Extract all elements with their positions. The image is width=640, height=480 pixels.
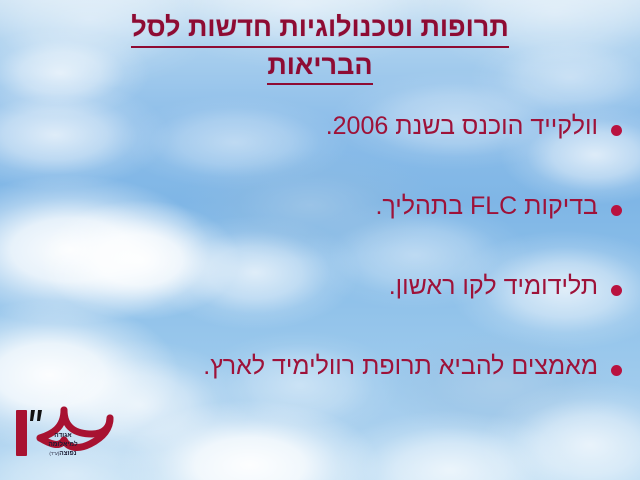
bullet-list: וולקייד הוכנס בשנת 2006. בדיקות FLC בתהל… [18,112,622,432]
bullet-text: וולקייד הוכנס בשנת 2006. [18,112,598,142]
slide-title-line-2: הבריאות [267,48,372,86]
bullet-text: תלידומיד לקו ראשון. [18,272,598,302]
bullet-dot-icon [611,365,622,376]
logo-caption-line-1: אגודה [39,432,87,441]
organization-logo: אגודה למיאלומה נפוצה(ע"ר) [6,404,124,472]
bullet-dot-icon [611,285,622,296]
logo-caption-line-2: למיאלומה [39,441,87,450]
slide-title: תרופות וטכנולוגיות חדשות לסל הבריאות [0,10,640,85]
logo-caption-line-3: נפוצה(ע"ר) [39,450,87,459]
logo-caption-word: נפוצה [59,450,76,457]
logo-caption-registered: (ע"ר) [49,451,59,456]
bullet-item: תלידומיד לקו ראשון. [18,272,622,352]
bullet-dot-icon [611,125,622,136]
slide-title-line-1: תרופות וטכנולוגיות חדשות לסל [131,10,508,48]
presentation-slide: תרופות וטכנולוגיות חדשות לסל הבריאות וול… [0,0,640,480]
bullet-item: בדיקות FLC בתהליך. [18,192,622,272]
bullet-dot-icon [611,205,622,216]
logo-caption: אגודה למיאלומה נפוצה(ע"ר) [39,432,87,459]
bullet-text: מאמצים להביא תרופת רוולימיד לארץ. [18,352,598,382]
bullet-item: וולקייד הוכנס בשנת 2006. [18,112,622,192]
bullet-text: בדיקות FLC בתהליך. [18,192,598,222]
